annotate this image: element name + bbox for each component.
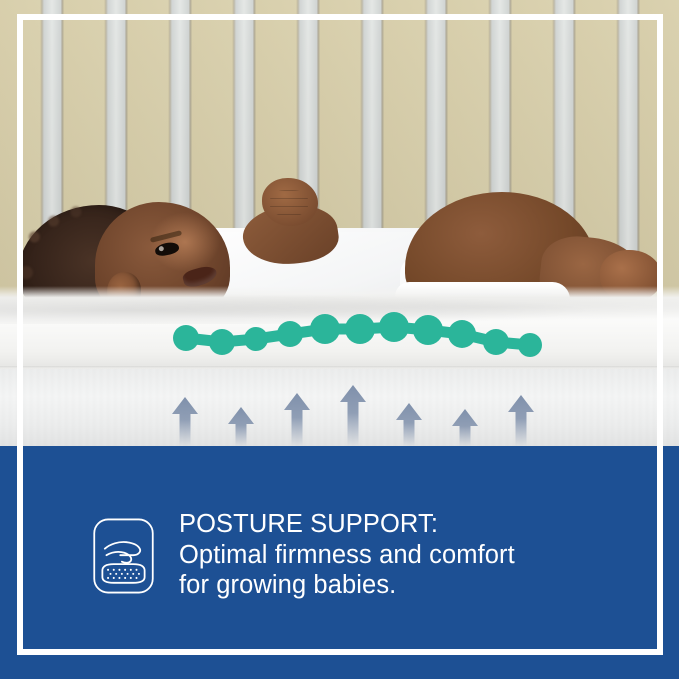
feature-body-line-2: for growing babies. [179, 570, 515, 600]
vertebra-node [173, 325, 199, 351]
spine-alignment-graphic [0, 300, 679, 360]
vertebra-node [518, 333, 542, 357]
feature-panel: POSTURE SUPPORT: Optimal firmness and co… [0, 446, 679, 679]
vertebra-node [379, 312, 409, 342]
feature-headline: POSTURE SUPPORT: [179, 509, 515, 539]
support-arrow [172, 397, 198, 447]
vertebra-node [310, 314, 340, 344]
support-arrow [452, 409, 478, 447]
support-arrow [340, 385, 366, 447]
vertebra-node [483, 329, 509, 355]
baby-fist [262, 178, 318, 226]
vertebra-node [413, 315, 443, 345]
support-arrow [396, 403, 422, 447]
support-arrow [228, 407, 254, 447]
vertebra-node [345, 314, 375, 344]
support-arrow [284, 393, 310, 447]
vertebra-node [277, 321, 303, 347]
support-arrow [508, 395, 534, 447]
vertebra-node [244, 327, 268, 351]
feature-copy: POSTURE SUPPORT: Optimal firmness and co… [179, 509, 515, 600]
vertebra-node [448, 320, 476, 348]
hand-on-mattress-icon [91, 515, 156, 597]
product-photo [0, 0, 679, 447]
upward-support-arrows [0, 369, 679, 447]
baby-face-highlight [150, 212, 220, 272]
vertebra-node [209, 329, 235, 355]
feature-body-line-1: Optimal firmness and comfort [179, 540, 515, 570]
feature-banner: POSTURE SUPPORT: Optimal firmness and co… [0, 0, 679, 679]
